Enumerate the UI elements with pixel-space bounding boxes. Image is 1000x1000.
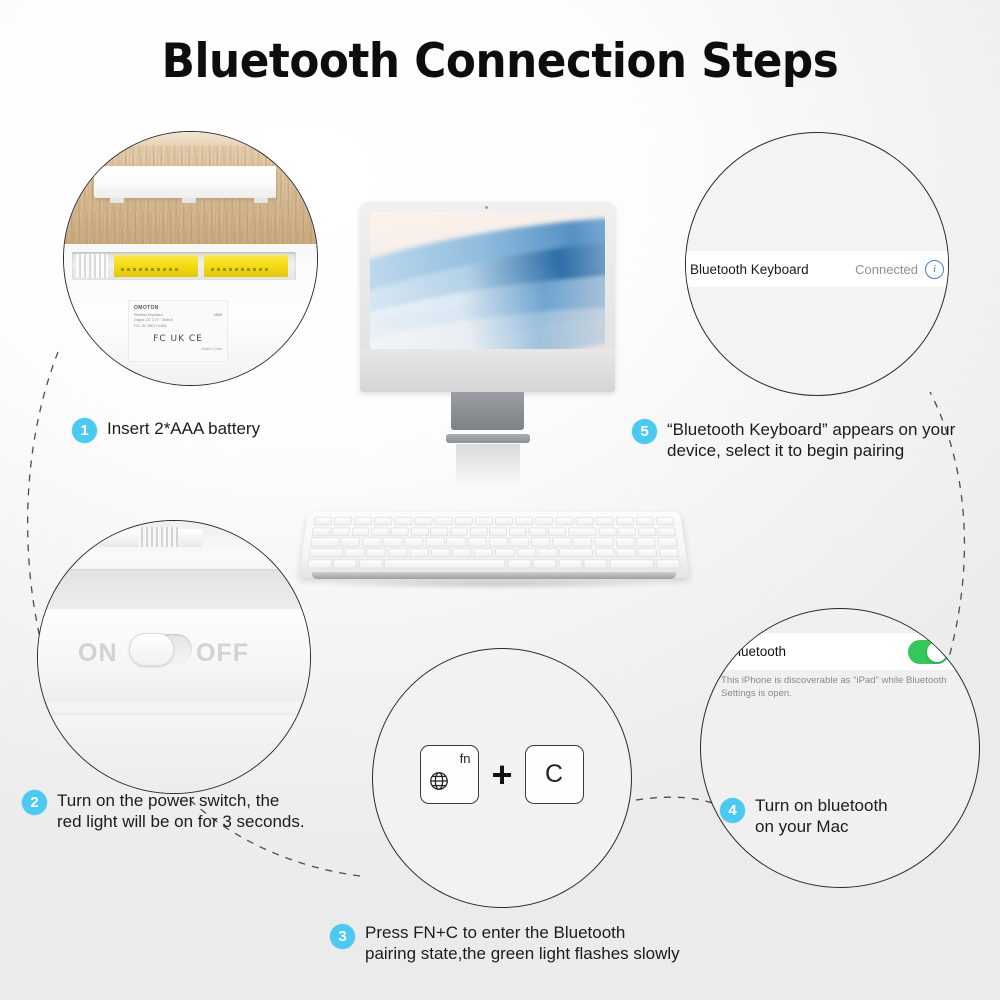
step-number-badge: 5 [632,419,657,444]
c-key-label: C [526,746,583,803]
globe-icon [428,770,450,797]
bluetooth-label: Bluetooth [729,644,786,659]
keyboard-shadow [322,578,666,590]
step-text: Insert 2*AAA battery [107,418,260,439]
desk-highlight [63,132,318,146]
device-name: Bluetooth Keyboard [690,262,809,277]
bluetooth-toggle[interactable] [908,640,949,664]
fn-key[interactable]: fn [420,745,479,804]
textured-band [38,569,310,609]
step-1-caption: 1 Insert 2*AAA battery [72,418,260,443]
brand-name: OMOTON [134,305,222,311]
step-text: Turn on bluetooth on your Mac [755,795,888,838]
aaa-battery [114,255,198,277]
label-fcc-id: FCC ID: 2BEJ7-KB01 [134,324,167,328]
webcam-dot [485,206,488,209]
step-2-detail-circle: ON OFF [37,520,311,794]
aaa-battery [204,255,288,277]
infographic-canvas: Bluetooth Connection Steps [0,0,1000,1000]
step-number-badge: 2 [22,790,47,815]
battery-cover-lid [94,166,276,198]
monitor-stand-neck [451,392,524,430]
battery-spring-contact [76,254,108,278]
label-model-code: KB58 [214,313,222,317]
battery-body [204,255,288,277]
step-4-caption: 4 Turn on bluetooth on your Mac [720,795,888,838]
wireless-keyboard-illustration [308,512,680,590]
lid-tab [110,198,124,203]
step-2-caption: 2 Turn on the power switch, the red ligh… [22,790,305,833]
switch-face-panel: ON OFF [38,609,310,701]
key-combination: fn + C [373,745,631,804]
product-spec-label: OMOTON Wireless Keyboard KB58 Output: DC… [128,300,228,362]
battery-body [114,255,198,277]
monitor-chin [360,349,615,392]
monitor-stand-foot [446,434,530,443]
compliance-marks: FC UK CE [134,334,222,344]
bluetooth-settings-row[interactable]: Bluetooth [715,633,963,670]
page-title: Bluetooth Connection Steps [35,34,965,89]
plus-sign: + [491,757,512,793]
step-3-caption: 3 Press FN+C to enter the Bluetooth pair… [330,922,680,965]
step-1-detail-circle: OMOTON Wireless Keyboard KB58 Output: DC… [63,131,318,386]
keyboard-bottom-face [38,716,310,794]
vent-grille [138,527,178,547]
imac-illustration [360,202,615,472]
label-model-desc: Wireless Keyboard [134,313,162,317]
switch-off-label: OFF [196,639,249,668]
c-key[interactable]: C [525,745,584,804]
stand-reflection [456,444,520,486]
step-number-badge: 4 [720,798,745,823]
bluetooth-footnote: This iPhone is discoverable as “iPad” wh… [721,675,965,701]
device-status: Connected [855,262,918,277]
paired-device-row[interactable]: Bluetooth Keyboard Connected i [685,251,949,287]
step-number-badge: 3 [330,924,355,949]
step-text: Press FN+C to enter the Bluetooth pairin… [365,922,680,965]
step-3-detail-circle: fn + C [372,648,632,908]
info-circle-icon[interactable]: i [925,260,944,279]
power-switch-knob[interactable] [129,633,174,666]
step-5-detail-circle: Bluetooth Keyboard Connected i [685,132,949,396]
step-text: “Bluetooth Keyboard” appears on your dev… [667,419,955,462]
label-made-in: Made in China [134,347,222,351]
lid-tab [182,198,196,203]
step-number-badge: 1 [72,418,97,443]
keyboard-keys-grid [307,517,681,569]
monitor-screen [370,212,605,349]
keyboard-shell [299,512,690,578]
lid-tab [254,198,268,203]
step-text: Turn on the power switch, the red light … [57,790,305,833]
keyboard-underside: OMOTON Wireless Keyboard KB58 Output: DC… [63,244,318,386]
label-output: Output: DC 3.7V ⋅ 300mA [134,318,173,322]
step-4-detail-circle: Bluetooth This iPhone is discoverable as… [700,608,980,888]
switch-on-label: ON [78,639,118,668]
fn-key-label: fn [460,751,471,766]
step-5-caption: 5 “Bluetooth Keyboard” appears on your d… [632,419,955,462]
